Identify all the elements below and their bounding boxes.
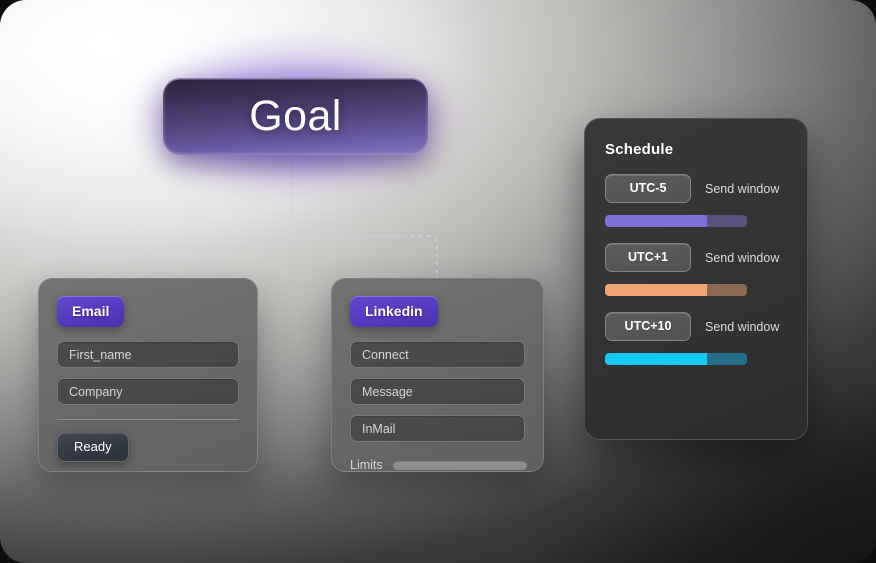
schedule-row-2-head: UTC+10 Send window	[605, 312, 787, 341]
schedule-row-1-head: UTC+1 Send window	[605, 243, 787, 272]
send-window-label-1: Send window	[705, 251, 779, 265]
ready-button[interactable]: Ready	[57, 432, 129, 462]
connector-branch-right	[292, 236, 437, 280]
goal-button[interactable]: Goal	[163, 78, 428, 155]
timezone-chip-1[interactable]: UTC+1	[605, 243, 691, 272]
email-field-company-value: Company	[69, 385, 123, 399]
linkedin-action-inmail-label: InMail	[362, 422, 395, 436]
email-field-first-name-value: First_name	[69, 348, 132, 362]
schedule-title: Schedule	[605, 141, 787, 158]
limits-progress-bar[interactable]	[393, 461, 527, 470]
send-window-bar-0[interactable]	[605, 215, 747, 227]
send-window-bar-1-rest	[707, 284, 747, 296]
linkedin-channel-card[interactable]: Linkedin Connect Message InMail Limits	[331, 278, 544, 472]
send-window-bar-1-fill	[605, 284, 707, 296]
linkedin-limits-row: Limits	[332, 442, 543, 472]
timezone-chip-2[interactable]: UTC+10	[605, 312, 691, 341]
scene-canvas: Goal Email First_name Company Ready Link…	[0, 0, 876, 563]
schedule-row-1: UTC+1 Send window	[605, 243, 787, 296]
schedule-row-0-head: UTC-5 Send window	[605, 174, 787, 203]
send-window-bar-1[interactable]	[605, 284, 747, 296]
linkedin-card-body: Linkedin Connect Message InMail	[332, 279, 543, 442]
schedule-panel: Schedule UTC-5 Send window UTC+1 Send wi…	[584, 118, 808, 440]
linkedin-action-connect-label: Connect	[362, 348, 409, 362]
send-window-bar-0-rest	[707, 215, 747, 227]
email-field-company[interactable]: Company	[57, 378, 239, 405]
linkedin-action-inmail[interactable]: InMail	[350, 415, 525, 442]
send-window-bar-2[interactable]	[605, 353, 747, 365]
schedule-row-0: UTC-5 Send window	[605, 174, 787, 227]
linkedin-action-message[interactable]: Message	[350, 378, 525, 405]
linkedin-action-message-label: Message	[362, 385, 413, 399]
schedule-row-2: UTC+10 Send window	[605, 312, 787, 365]
send-window-label-2: Send window	[705, 320, 779, 334]
linkedin-action-connect[interactable]: Connect	[350, 341, 525, 368]
email-field-first-name[interactable]: First_name	[57, 341, 239, 368]
goal-label: Goal	[249, 95, 341, 138]
connector-branch-left	[147, 236, 292, 280]
send-window-bar-2-fill	[605, 353, 707, 365]
email-card-footer: Ready	[39, 420, 257, 462]
goal-node[interactable]: Goal	[163, 78, 428, 155]
send-window-bar-0-fill	[605, 215, 707, 227]
limits-label: Limits	[350, 458, 383, 472]
email-card-body: Email First_name Company	[39, 279, 257, 420]
send-window-bar-2-rest	[707, 353, 747, 365]
send-window-label-0: Send window	[705, 182, 779, 196]
timezone-chip-0[interactable]: UTC-5	[605, 174, 691, 203]
email-badge[interactable]: Email	[57, 296, 124, 327]
linkedin-badge[interactable]: Linkedin	[350, 296, 438, 327]
email-channel-card[interactable]: Email First_name Company Ready	[38, 278, 258, 472]
